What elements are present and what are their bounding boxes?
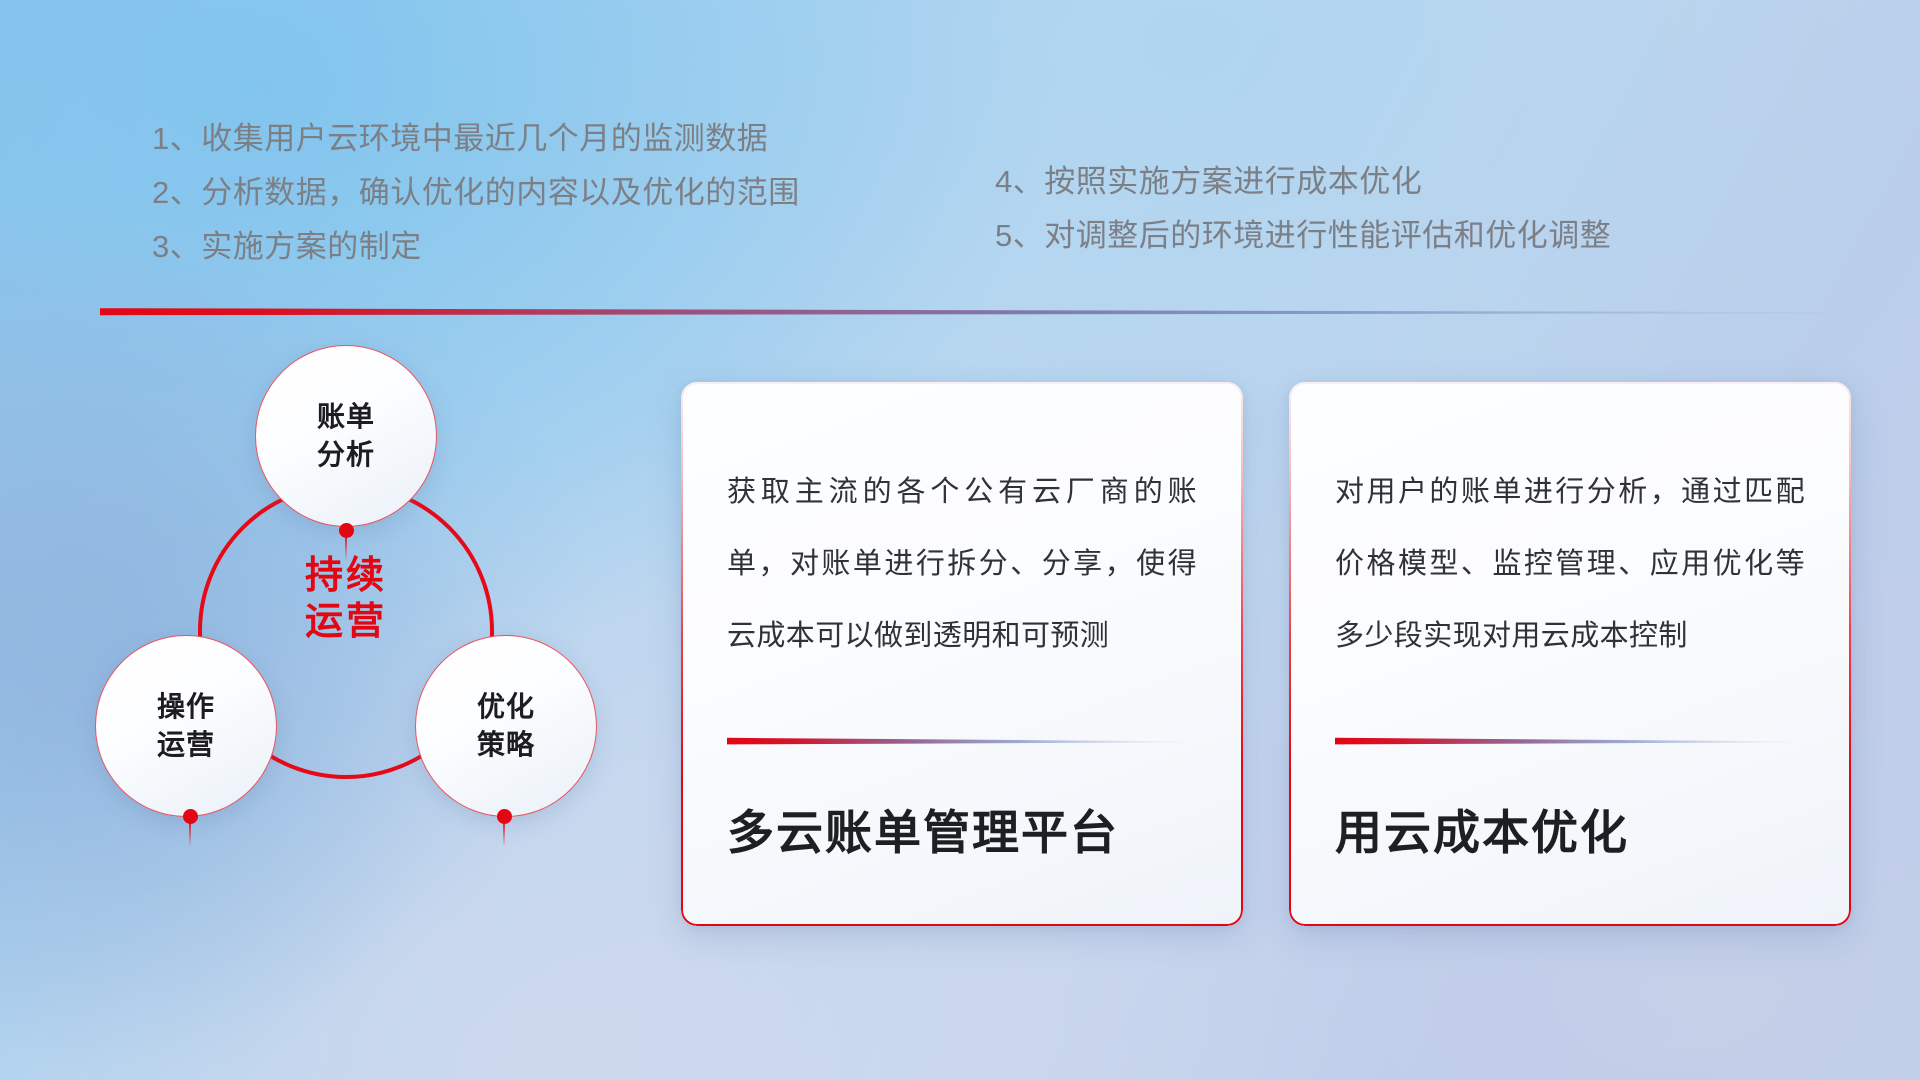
card-divider-line [727, 737, 1197, 745]
step-item-3: 3、实施方案的制定 [152, 220, 800, 274]
card-multi-cloud-billing-platform[interactable]: 获取主流的各个公有云厂商的账单，对账单进行拆分、分享，使得云成本可以做到透明和可… [681, 382, 1243, 926]
center-label-line-2: 运营 [198, 599, 494, 645]
top-divider-line [100, 307, 1890, 316]
connector-dot-right [497, 809, 512, 824]
card-divider-line [1335, 737, 1805, 745]
connector-dot-top [339, 523, 354, 538]
node-label-line-1: 操作 [157, 688, 215, 726]
slide-canvas: 1、收集用户云环境中最近几个月的监测数据 2、分析数据，确认优化的内容以及优化的… [0, 0, 1920, 1080]
card-title: 多云账单管理平台 [727, 800, 1197, 866]
node-label-line-1: 优化 [477, 688, 535, 726]
steps-right-column: 4、按照实施方案进行成本优化 5、对调整后的环境进行性能评估和优化调整 [995, 155, 1611, 263]
connector-dot-left [183, 809, 198, 824]
diagram-node-optimization-strategy[interactable]: 优化 策略 [415, 635, 597, 817]
connector-tail-right [503, 823, 505, 847]
node-label-line-2: 运营 [157, 726, 215, 764]
diagram-center-label: 持续 运营 [198, 553, 494, 645]
card-body-text: 对用户的账单进行分析，通过匹配价格模型、监控管理、应用优化等多少段实现对用云成本… [1335, 456, 1805, 672]
node-label-line-2: 策略 [477, 726, 535, 764]
step-item-4: 4、按照实施方案进行成本优化 [995, 155, 1611, 209]
card-cloud-cost-optimization[interactable]: 对用户的账单进行分析，通过匹配价格模型、监控管理、应用优化等多少段实现对用云成本… [1289, 382, 1851, 926]
step-item-2: 2、分析数据，确认优化的内容以及优化的范围 [152, 166, 800, 220]
diagram-node-billing-analysis[interactable]: 账单 分析 [255, 345, 437, 527]
step-item-1: 1、收集用户云环境中最近几个月的监测数据 [152, 112, 800, 166]
steps-left-column: 1、收集用户云环境中最近几个月的监测数据 2、分析数据，确认优化的内容以及优化的… [152, 112, 800, 274]
connector-tail-top [345, 537, 347, 561]
continuous-operation-diagram: 持续 运营 账单 分析 操作 运营 优化 策略 [95, 345, 655, 945]
node-label-line-2: 分析 [317, 436, 375, 474]
connector-tail-left [189, 823, 191, 847]
card-body-text: 获取主流的各个公有云厂商的账单，对账单进行拆分、分享，使得云成本可以做到透明和可… [727, 456, 1197, 672]
node-label-line-1: 账单 [317, 398, 375, 436]
card-title: 用云成本优化 [1335, 800, 1805, 866]
step-item-5: 5、对调整后的环境进行性能评估和优化调整 [995, 209, 1611, 263]
diagram-node-operation[interactable]: 操作 运营 [95, 635, 277, 817]
